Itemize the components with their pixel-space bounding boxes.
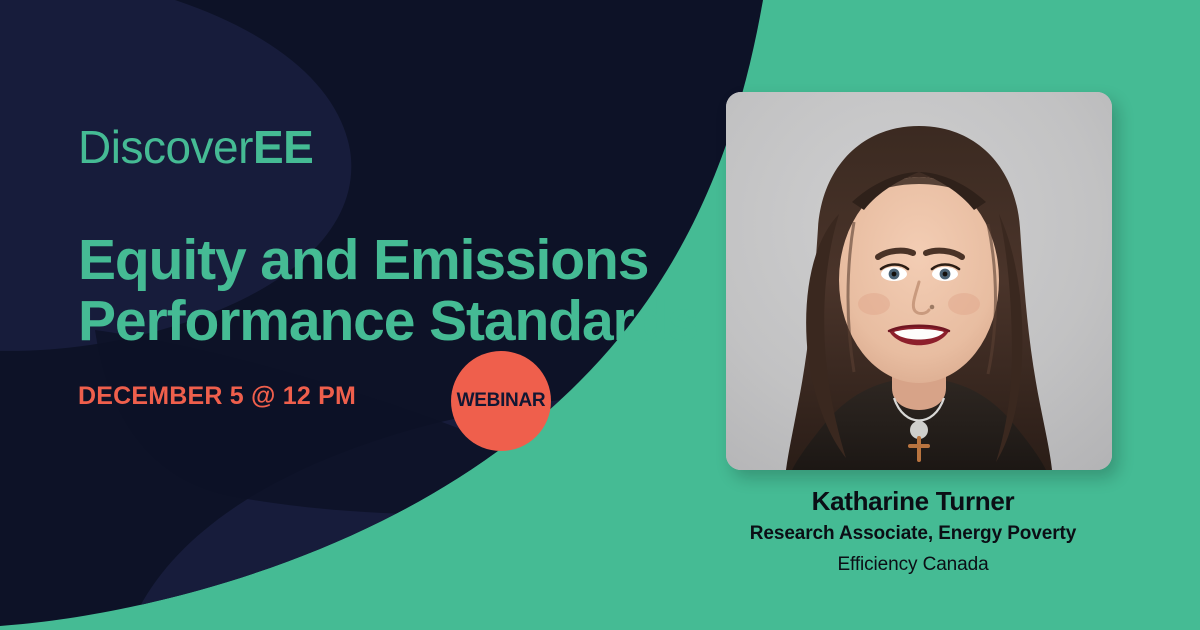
speaker-photo-image — [726, 92, 1112, 470]
event-date-time: DECEMBER 5 @ 12 PM — [78, 382, 356, 411]
speaker-details: Katharine Turner Research Associate, Ene… — [703, 486, 1123, 577]
headline-line-1: Equity and Emissions — [78, 230, 718, 290]
speaker-name: Katharine Turner — [703, 486, 1123, 517]
left-content-column: DiscoverEE Equity and Emissions Performa… — [78, 0, 718, 630]
webinar-promo-graphic: DiscoverEE Equity and Emissions Performa… — [0, 0, 1200, 630]
headline-line-2: Performance Standards — [78, 291, 718, 351]
page-title: Equity and Emissions Performance Standar… — [78, 230, 718, 351]
webinar-badge-label: WEBINAR — [457, 390, 546, 412]
webinar-badge: WEBINAR — [451, 351, 551, 451]
speaker-role: Research Associate, Energy Poverty — [703, 523, 1123, 546]
speaker-photo — [726, 92, 1112, 470]
brand-logo-light: Discover — [78, 121, 253, 173]
speaker-organization: Efficiency Canada — [703, 554, 1123, 577]
brand-logo-bold: EE — [253, 121, 313, 173]
brand-logo: DiscoverEE — [78, 124, 313, 170]
